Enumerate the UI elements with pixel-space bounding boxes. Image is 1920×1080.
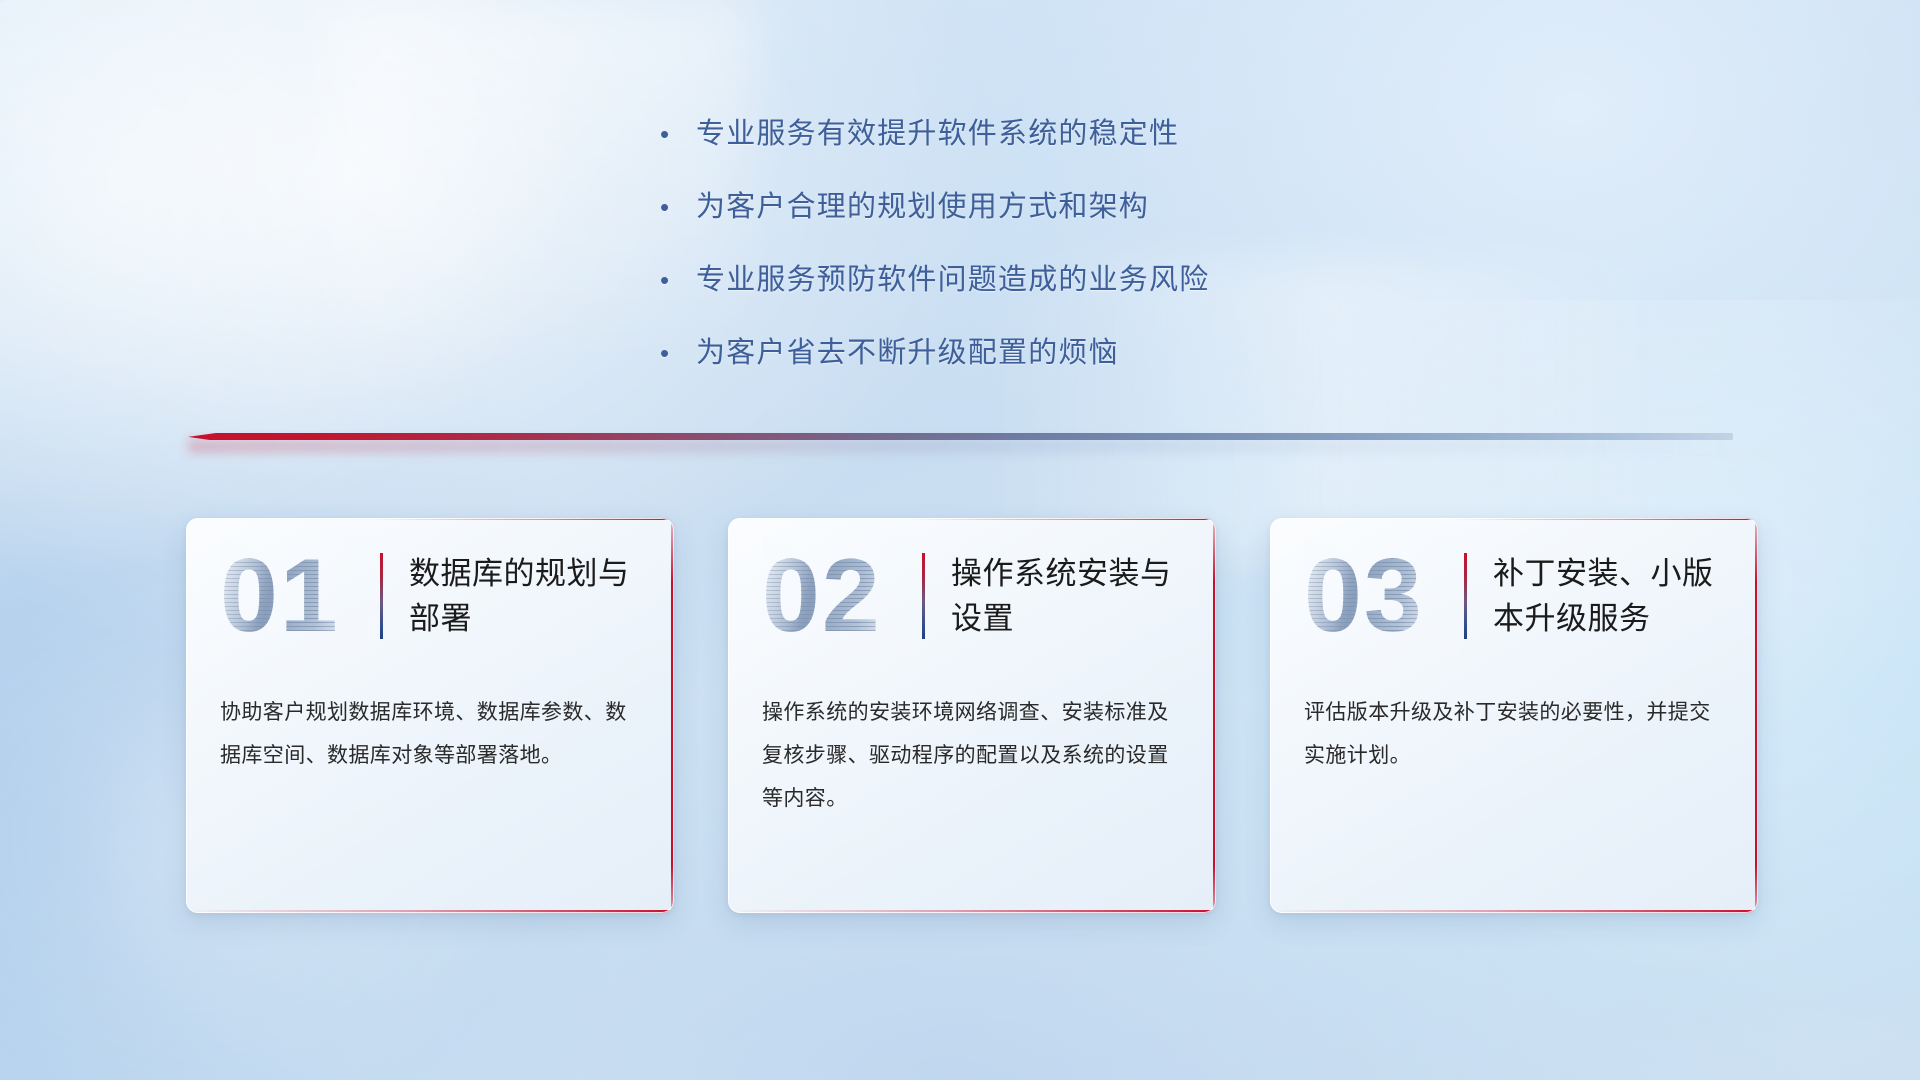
bullet-text: 专业服务预防软件问题造成的业务风险	[696, 256, 1209, 298]
slide-canvas: • 专业服务有效提升软件系统的稳定性 • 为客户合理的规划使用方式和架构 • 专…	[0, 0, 1920, 1080]
card-number-wrap: 02	[762, 537, 918, 655]
list-item: • 专业服务预防软件问题造成的业务风险	[660, 256, 1420, 298]
card-02[interactable]: 02 操作系统安装与设置 操作系统的安装环境网络调查、安装标准及复核步骤、驱动程…	[728, 518, 1216, 913]
card-header: 03 补丁安装、小版本升级服务	[1270, 518, 1758, 673]
card-body-text: 协助客户规划数据库环境、数据库参数、数据库空间、数据库对象等部署落地。	[186, 673, 674, 777]
card-title: 操作系统安装与设置	[951, 551, 1201, 641]
card-title-divider	[1464, 553, 1467, 639]
list-item: • 专业服务有效提升软件系统的稳定性	[660, 110, 1420, 152]
bullet-text: 为客户合理的规划使用方式和架构	[696, 183, 1149, 225]
card-body-text: 操作系统的安装环境网络调查、安装标准及复核步骤、驱动程序的配置以及系统的设置等内…	[728, 673, 1216, 820]
card-01[interactable]: 01 数据库的规划与部署 协助客户规划数据库环境、数据库参数、数据库空间、数据库…	[186, 518, 674, 913]
card-header: 01 数据库的规划与部署	[186, 518, 674, 673]
bullet-list: • 专业服务有效提升软件系统的稳定性 • 为客户合理的规划使用方式和架构 • 专…	[660, 110, 1420, 402]
card-body-text: 评估版本升级及补丁安装的必要性，并提交实施计划。	[1270, 673, 1758, 777]
list-item: • 为客户合理的规划使用方式和架构	[660, 183, 1420, 225]
card-edge-bottom	[728, 910, 1216, 913]
bullet-dot-icon: •	[660, 194, 696, 220]
bullet-dot-icon: •	[660, 340, 696, 366]
card-number: 02	[762, 537, 918, 655]
card-number: 01	[220, 537, 376, 655]
card-number-wrap: 03	[1304, 537, 1460, 655]
section-divider	[188, 430, 1733, 446]
card-number-wrap: 01	[220, 537, 376, 655]
card-title: 数据库的规划与部署	[409, 551, 659, 641]
card-edge-bottom	[1270, 910, 1758, 913]
card-header: 02 操作系统安装与设置	[728, 518, 1216, 673]
divider-glow	[188, 439, 1733, 453]
bullet-text: 专业服务有效提升软件系统的稳定性	[696, 110, 1179, 152]
card-title-divider	[922, 553, 925, 639]
bullet-text: 为客户省去不断升级配置的烦恼	[696, 329, 1119, 371]
bullet-dot-icon: •	[660, 121, 696, 147]
card-number: 03	[1304, 537, 1460, 655]
card-03[interactable]: 03 补丁安装、小版本升级服务 评估版本升级及补丁安装的必要性，并提交实施计划。	[1270, 518, 1758, 913]
list-item: • 为客户省去不断升级配置的烦恼	[660, 329, 1420, 371]
card-edge-bottom	[186, 910, 674, 913]
card-title-divider	[380, 553, 383, 639]
bullet-dot-icon: •	[660, 267, 696, 293]
card-row: 01 数据库的规划与部署 协助客户规划数据库环境、数据库参数、数据库空间、数据库…	[186, 518, 1758, 913]
card-title: 补丁安装、小版本升级服务	[1493, 551, 1743, 641]
